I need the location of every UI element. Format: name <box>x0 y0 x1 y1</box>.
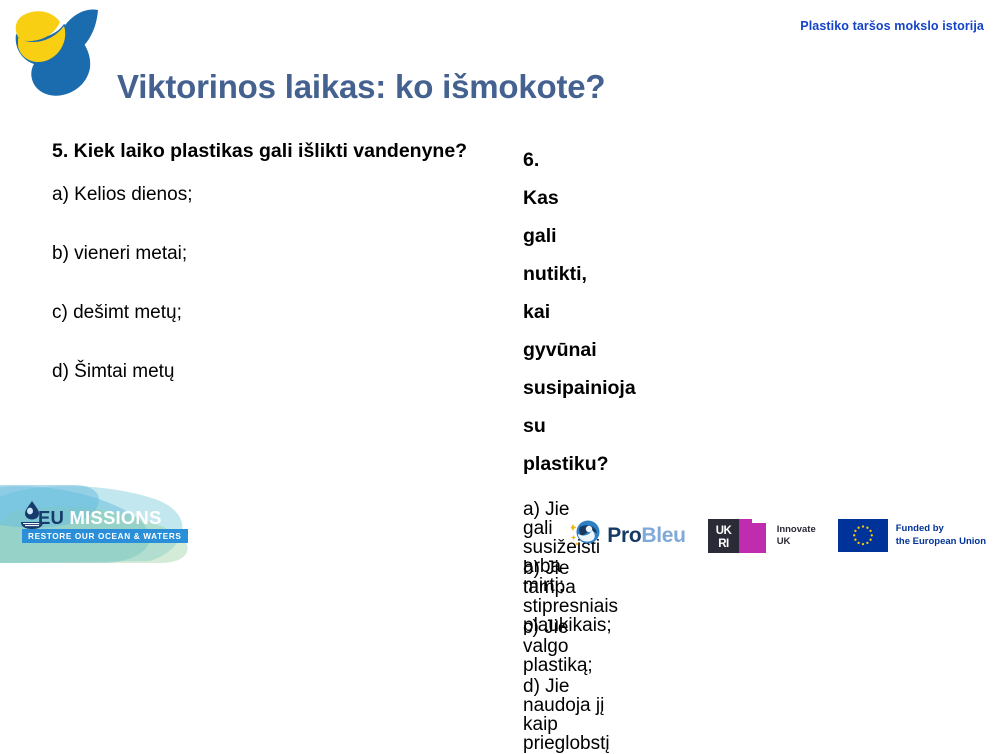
page-title: Viktorinos laikas: ko išmokote? <box>117 68 605 106</box>
probleu-swirl-icon <box>571 518 601 553</box>
probleu-wordmark: ProBleu <box>607 524 685 548</box>
question-prompt: 6. Kas gali nutikti, kai gyvūnai susipai… <box>523 141 540 483</box>
answer-option-b[interactable]: b) Jie tampa stipresniais plaukikais; <box>523 559 540 618</box>
eu-missions-eu-text: EU <box>38 507 64 528</box>
ukri-mark-icon: UK RI <box>708 519 770 553</box>
slide-eyebrow-text: Plastiko taršos mokslo istorija <box>800 19 984 33</box>
quiz-columns: 5. Kiek laiko plastikas gali išlikti van… <box>0 132 1000 736</box>
svg-text:UK: UK <box>715 525 732 537</box>
answer-option-c[interactable]: c) Jie valgo plastiką; <box>523 618 540 677</box>
innovate-uk-logo: UK RI Innovate UK <box>708 519 816 553</box>
eu-missions-missions-text: MISSIONS <box>64 507 161 528</box>
eu-flag-icon <box>838 519 888 552</box>
probleu-pro-text: Pro <box>607 524 641 547</box>
eu-mission-swoosh-logo-icon <box>4 2 108 106</box>
probleu-logo: ProBleu <box>571 518 685 553</box>
svg-text:RI: RI <box>718 538 729 550</box>
answer-list: a) Jie gali susižeisti arba mirti; b) Ji… <box>523 500 540 736</box>
funded-by-eu-text: Funded by the European Union <box>896 523 986 548</box>
funded-by-eu-line1: Funded by <box>896 523 944 534</box>
probleu-bleu-text: Bleu <box>641 524 685 547</box>
question-block-6: 6. Kas gali nutikti, kai gyvūnai susipai… <box>40 132 550 736</box>
eu-missions-logo: EU MISSIONS RESTORE OUR OCEAN & WATERS <box>0 483 210 563</box>
innovate-uk-line1: Innovate <box>777 524 816 535</box>
funded-by-eu-logo: Funded by the European Union <box>838 519 986 552</box>
funded-by-eu-line2: the European Union <box>896 536 986 547</box>
footer-logo-strip: ProBleu UK RI Innovate UK <box>571 518 986 553</box>
innovate-uk-line2: UK <box>777 536 791 547</box>
answer-option-a[interactable]: a) Jie gali susižeisti arba mirti; <box>523 500 540 559</box>
answer-option-d[interactable]: d) Jie naudoja jį kaip prieglobstį <box>523 677 540 736</box>
innovate-uk-text: Innovate UK <box>777 524 816 548</box>
eu-missions-wordmark: EU MISSIONS <box>38 507 162 529</box>
eu-missions-tagline: RESTORE OUR OCEAN & WATERS <box>22 529 188 543</box>
